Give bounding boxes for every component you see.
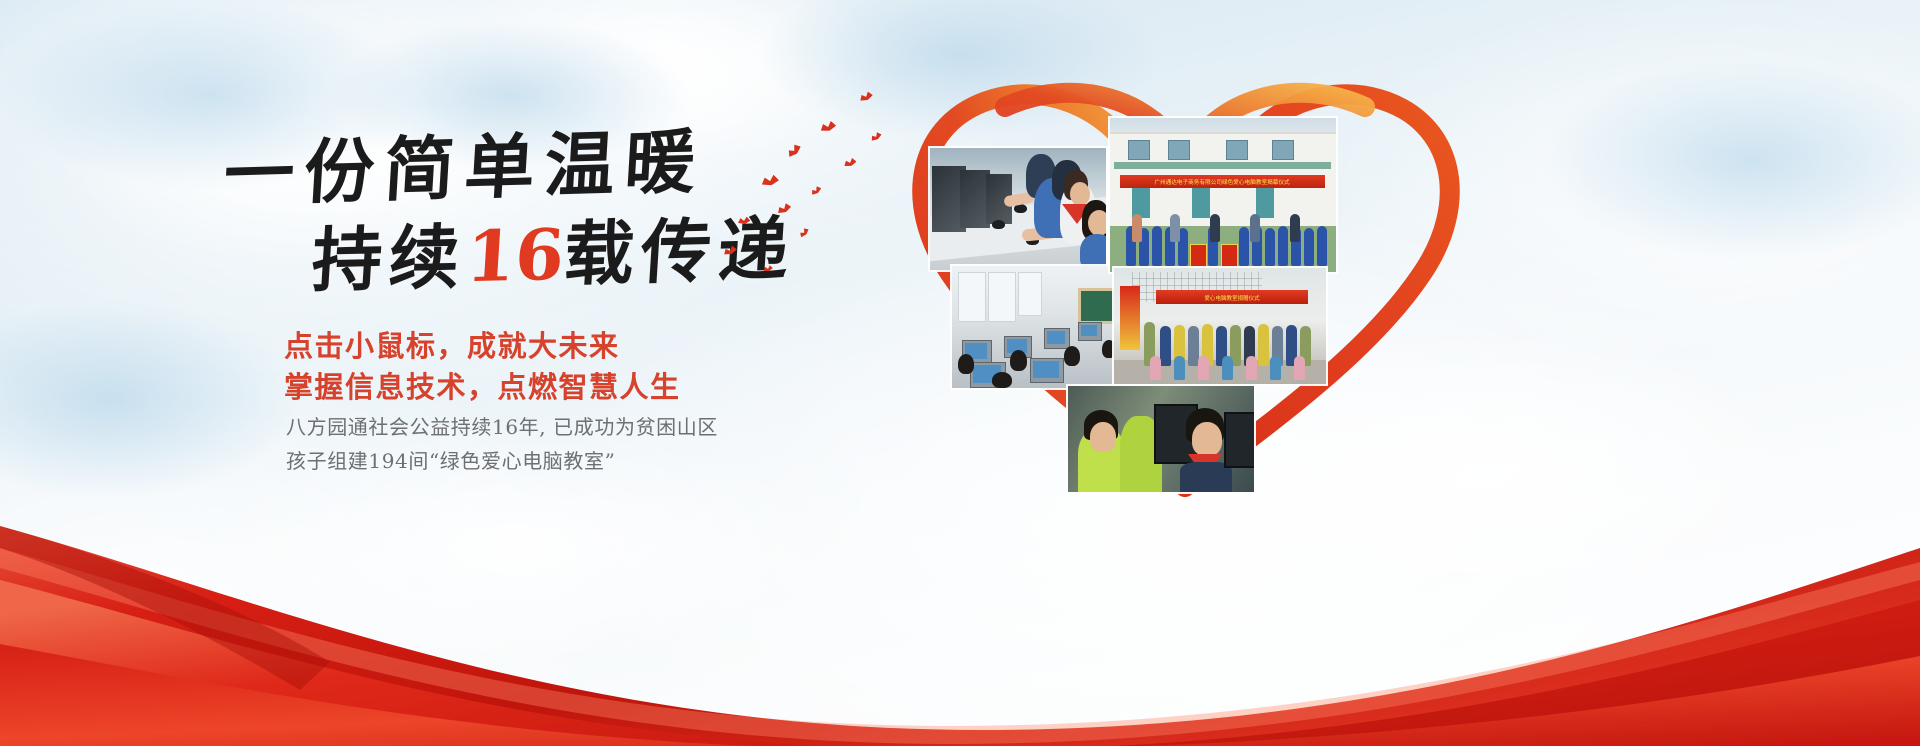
ceremony-banner-text: 广州通达电子商务有限公司绿色爱心电脑教室揭幕仪式 bbox=[1155, 177, 1290, 185]
subheading-line-2: 掌握信息技术，点燃智慧人生 bbox=[284, 368, 681, 409]
charity-banner: 一份简单温暖 持续16载传递 点击小鼠标，成就大未来 掌握信息技术，点燃智慧人生… bbox=[0, 0, 1920, 750]
subheading-block: 点击小鼠标，成就大未来 掌握信息技术，点燃智慧人生 bbox=[284, 327, 681, 409]
subheading-line-1: 点击小鼠标，成就大未来 bbox=[284, 327, 681, 368]
headline-year-count: 16 bbox=[464, 213, 567, 298]
photo-donation-ceremony-indoor: 爱心电脑教室捐赠仪式 bbox=[1114, 268, 1326, 384]
ceremony-banner-indoor-text: 爱心电脑教室捐赠仪式 bbox=[1204, 293, 1259, 301]
photo-donation-ceremony-schoolyard: 广州通达电子商务有限公司绿色爱心电脑教室揭幕仪式 bbox=[1110, 118, 1336, 272]
ceremony-banner-schoolyard: 广州通达电子商务有限公司绿色爱心电脑教室揭幕仪式 bbox=[1120, 175, 1325, 188]
photo-students-at-computers bbox=[930, 148, 1106, 270]
bottom-edge bbox=[0, 746, 1920, 750]
ceremony-banner-indoor: 爱心电脑教室捐赠仪式 bbox=[1156, 290, 1308, 304]
red-ribbon-wave-icon bbox=[0, 430, 1920, 750]
headline-line-2-prefix: 持续 bbox=[309, 215, 469, 302]
